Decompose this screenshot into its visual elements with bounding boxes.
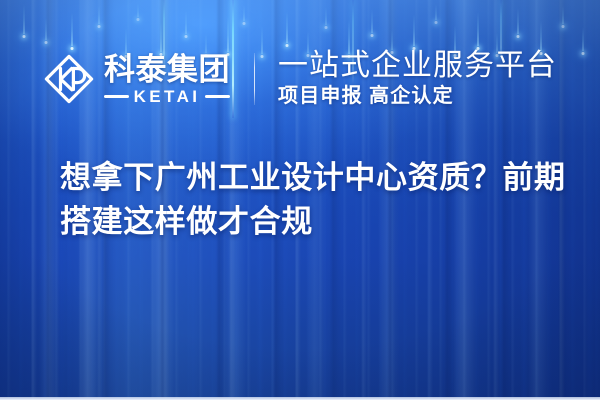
brand-name-en: KETAI (134, 88, 201, 105)
ketai-kp-diamond-monogram-icon (43, 53, 95, 105)
brand-text: 科泰集团 KETAI (104, 53, 230, 105)
brand-name-en-row: KETAI (104, 88, 230, 105)
brand-lockup: 科泰集团 KETAI (43, 53, 254, 105)
tagline-sub: 项目申报 高企认定 (278, 85, 454, 108)
promo-banner: 科泰集团 KETAI 一站式企业服务平台 项目申报 高企认定 想拿下广州工业设计… (0, 0, 600, 400)
brand-name-cn: 科泰集团 (104, 53, 230, 86)
banner-header: 科泰集团 KETAI 一站式企业服务平台 项目申报 高企认定 (0, 48, 600, 110)
tagline-block: 一站式企业服务平台 项目申报 高企认定 (255, 50, 557, 108)
tagline-main: 一站式企业服务平台 (278, 50, 557, 82)
brand-rule-left (104, 95, 129, 98)
headline: 想拿下广州工业设计中心资质？前期搭建这样做才合规 (60, 156, 572, 244)
brand-rule-right (205, 95, 230, 98)
